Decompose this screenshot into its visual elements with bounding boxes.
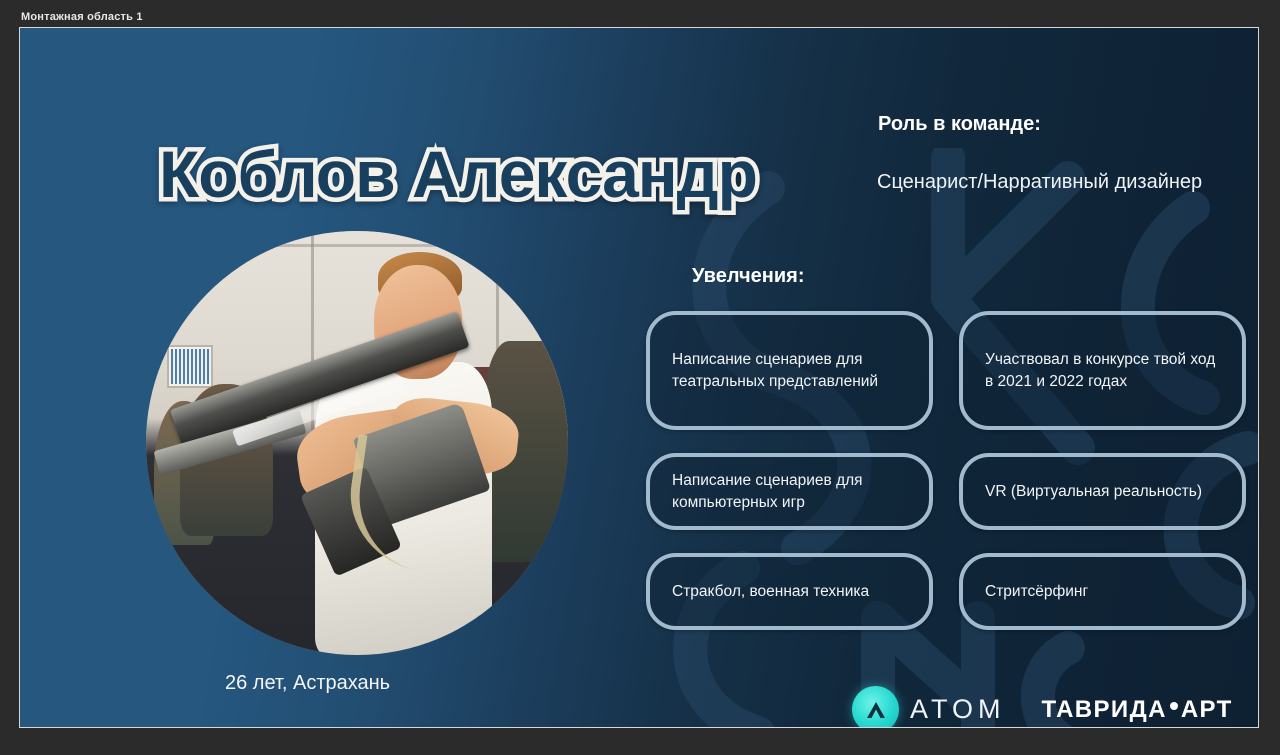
role-label: Роль в команде: — [878, 113, 1041, 136]
dot-separator-icon — [1170, 702, 1178, 710]
hobby-row: Написание сценариев для компьютерных игр… — [646, 453, 1246, 530]
tavrida-word-second: АРТ — [1181, 696, 1233, 724]
profile-photo — [146, 231, 568, 655]
hobby-item[interactable]: VR (Виртуальная реальность) — [959, 453, 1246, 530]
profile-photo-image — [146, 231, 568, 655]
hobby-row: Стракбол, военная техника Стритсёрфинг — [646, 553, 1246, 630]
person-name-title: Коблов Александр — [159, 141, 757, 207]
role-value: Сценарист/Нарративный дизайнер — [877, 169, 1207, 196]
hobby-item[interactable]: Стракбол, военная техника — [646, 553, 933, 630]
hobbies-grid: Написание сценариев для театральных пред… — [646, 311, 1246, 653]
hobby-item[interactable]: Написание сценариев для компьютерных игр — [646, 453, 933, 530]
chevron-up-icon — [852, 686, 899, 727]
person-location: 26 лет, Астрахань — [225, 672, 390, 695]
hobby-row: Написание сценариев для театральных пред… — [646, 311, 1246, 430]
hobbies-label: Увелчения: — [692, 265, 804, 288]
hobby-item[interactable]: Участвовал в конкурсе твой ход в 2021 и … — [959, 311, 1246, 430]
slide-canvas: Коблов Александр 26 лет, Астрахань Роль … — [20, 28, 1258, 727]
logo-bar: ATOM ТАВРИДА АРТ — [852, 686, 1233, 727]
atom-wordmark: ATOM — [910, 694, 1006, 725]
atom-logo: ATOM — [852, 686, 1006, 727]
hobby-item[interactable]: Стритсёрфинг — [959, 553, 1246, 630]
artboard-frame[interactable]: Коблов Александр 26 лет, Астрахань Роль … — [19, 27, 1259, 728]
tavrida-word-first: ТАВРИДА — [1042, 696, 1167, 724]
hobby-item[interactable]: Написание сценариев для театральных пред… — [646, 311, 933, 430]
tavrida-art-logo: ТАВРИДА АРТ — [1042, 696, 1233, 724]
artboard-label: Монтажная область 1 — [21, 11, 143, 23]
